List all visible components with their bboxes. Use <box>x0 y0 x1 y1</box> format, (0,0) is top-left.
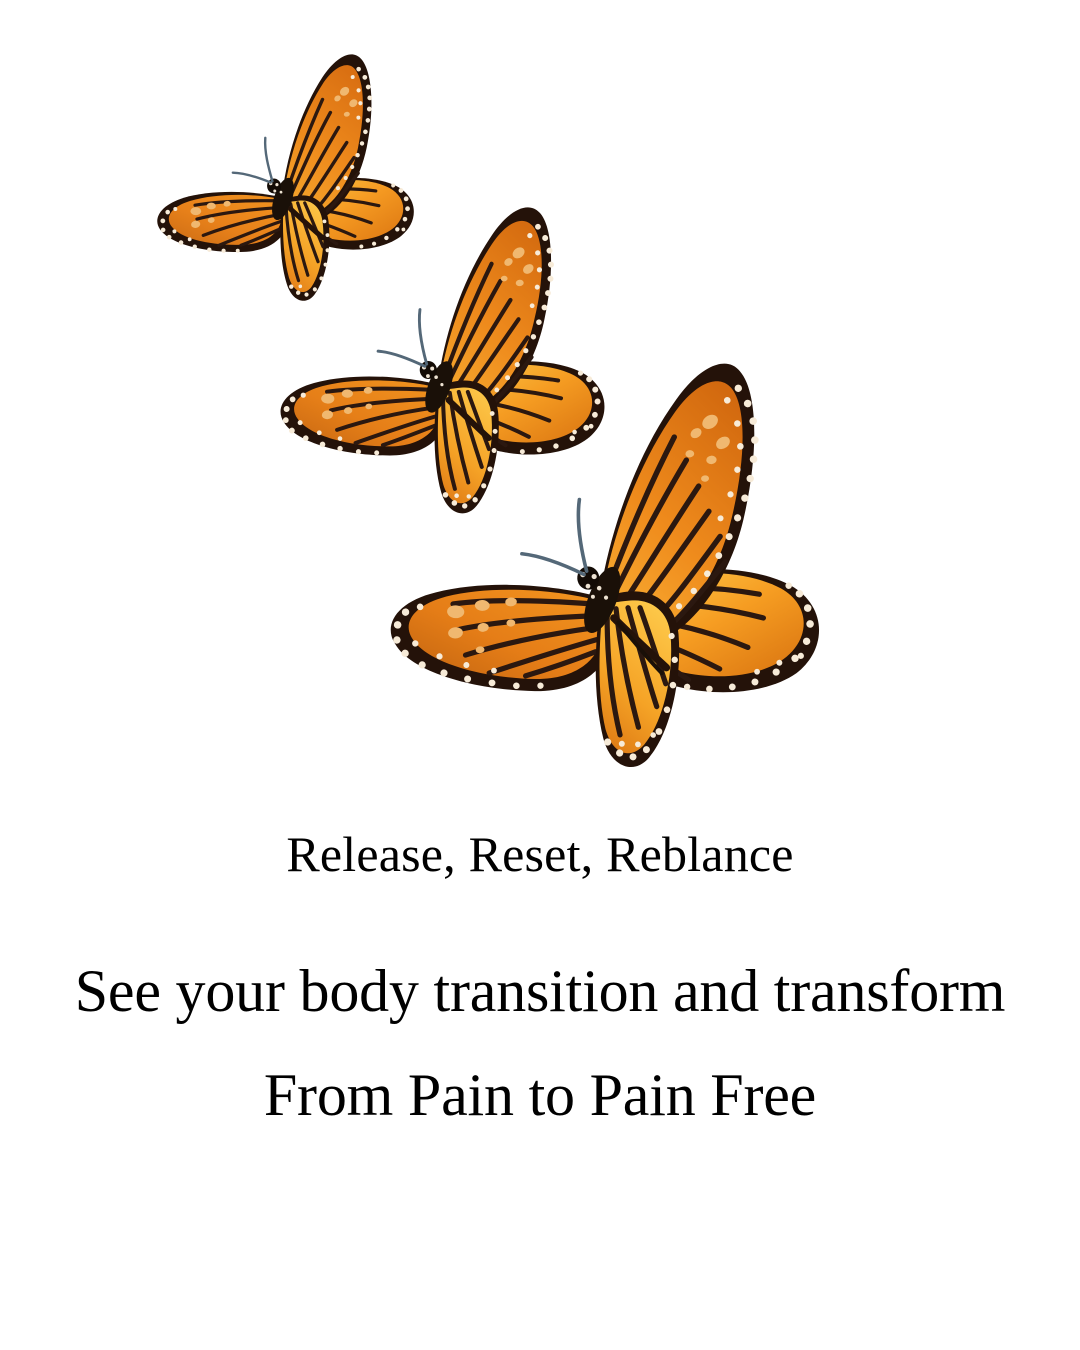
body-copy-line-2: From Pain to Pain Free <box>0 1062 1080 1129</box>
monarch-butterfly-large <box>356 348 846 800</box>
body-copy-line-1: See your body transition and transform <box>0 958 1080 1025</box>
butterfly-artwork <box>0 0 1080 820</box>
poster-canvas: Release, Reset, Reblance See your body t… <box>0 0 1080 1350</box>
antennae <box>229 138 273 188</box>
headline: Release, Reset, Reblance <box>0 826 1080 882</box>
left-forewing <box>387 575 614 704</box>
antennae <box>518 499 587 579</box>
